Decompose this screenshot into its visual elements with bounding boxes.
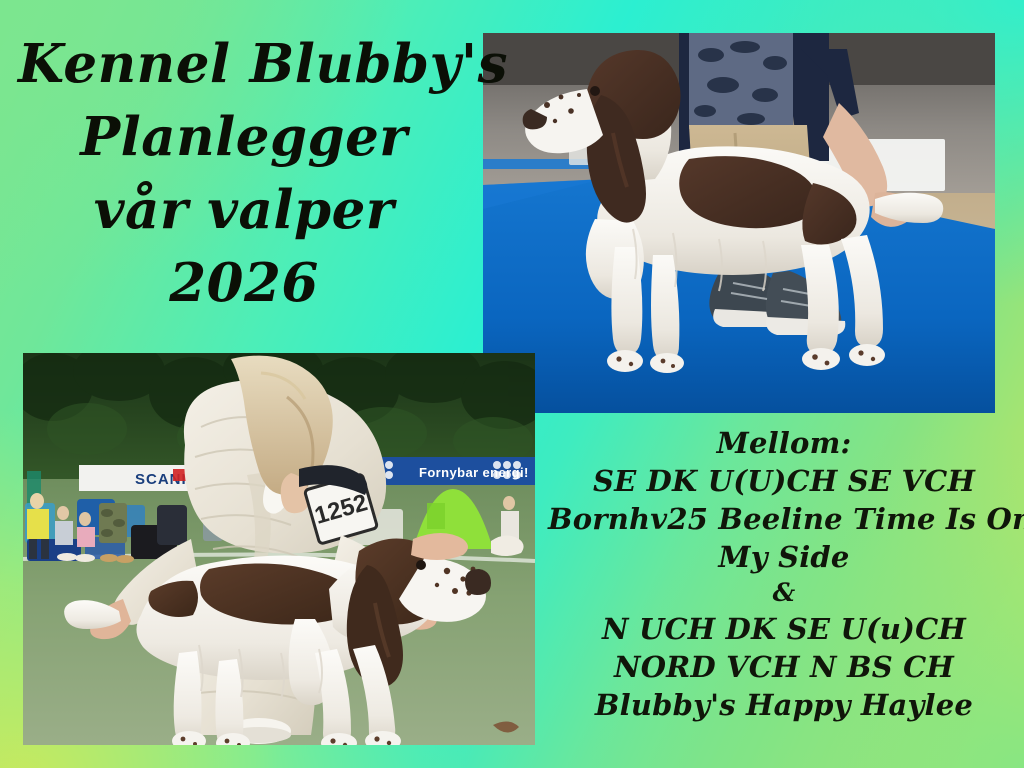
photo-outdoor-show: SCANIA Fornybar energi! (23, 353, 535, 745)
sire-name-line-1: Bornhv25 Beeline Time Is On (548, 500, 1020, 538)
sire-name-line-2: My Side (548, 538, 1020, 576)
photo-indoor-show (483, 33, 995, 413)
title-line-2: Planlegger (18, 101, 470, 174)
sire-titles: SE DK U(U)CH SE VCH (548, 462, 1020, 500)
title-line-3: vår valper (18, 174, 470, 247)
dam-titles-line-2: NORD VCH N BS CH (548, 648, 1020, 686)
photo-outdoor-illustration: SCANIA Fornybar energi! (23, 353, 535, 745)
dam-name: Blubby's Happy Haylee (548, 686, 1020, 724)
title-line-1: Kennel Blubby's (18, 28, 470, 101)
poster-title: Kennel Blubby's Planlegger vår valper 20… (18, 28, 470, 320)
poster-canvas: SCANIA Fornybar energi! (0, 0, 1024, 768)
pedigree-heading: Mellom: (548, 424, 1020, 462)
dam-titles-line-1: N UCH DK SE U(u)CH (548, 610, 1020, 648)
pedigree-text-block: Mellom: SE DK U(U)CH SE VCH Bornhv25 Bee… (548, 424, 1020, 724)
photo-indoor-illustration (483, 33, 995, 413)
pedigree-conjunction: & (548, 576, 1020, 610)
title-line-4: 2026 (18, 247, 470, 320)
svg-text:Fornybar energi!: Fornybar energi! (419, 465, 529, 480)
